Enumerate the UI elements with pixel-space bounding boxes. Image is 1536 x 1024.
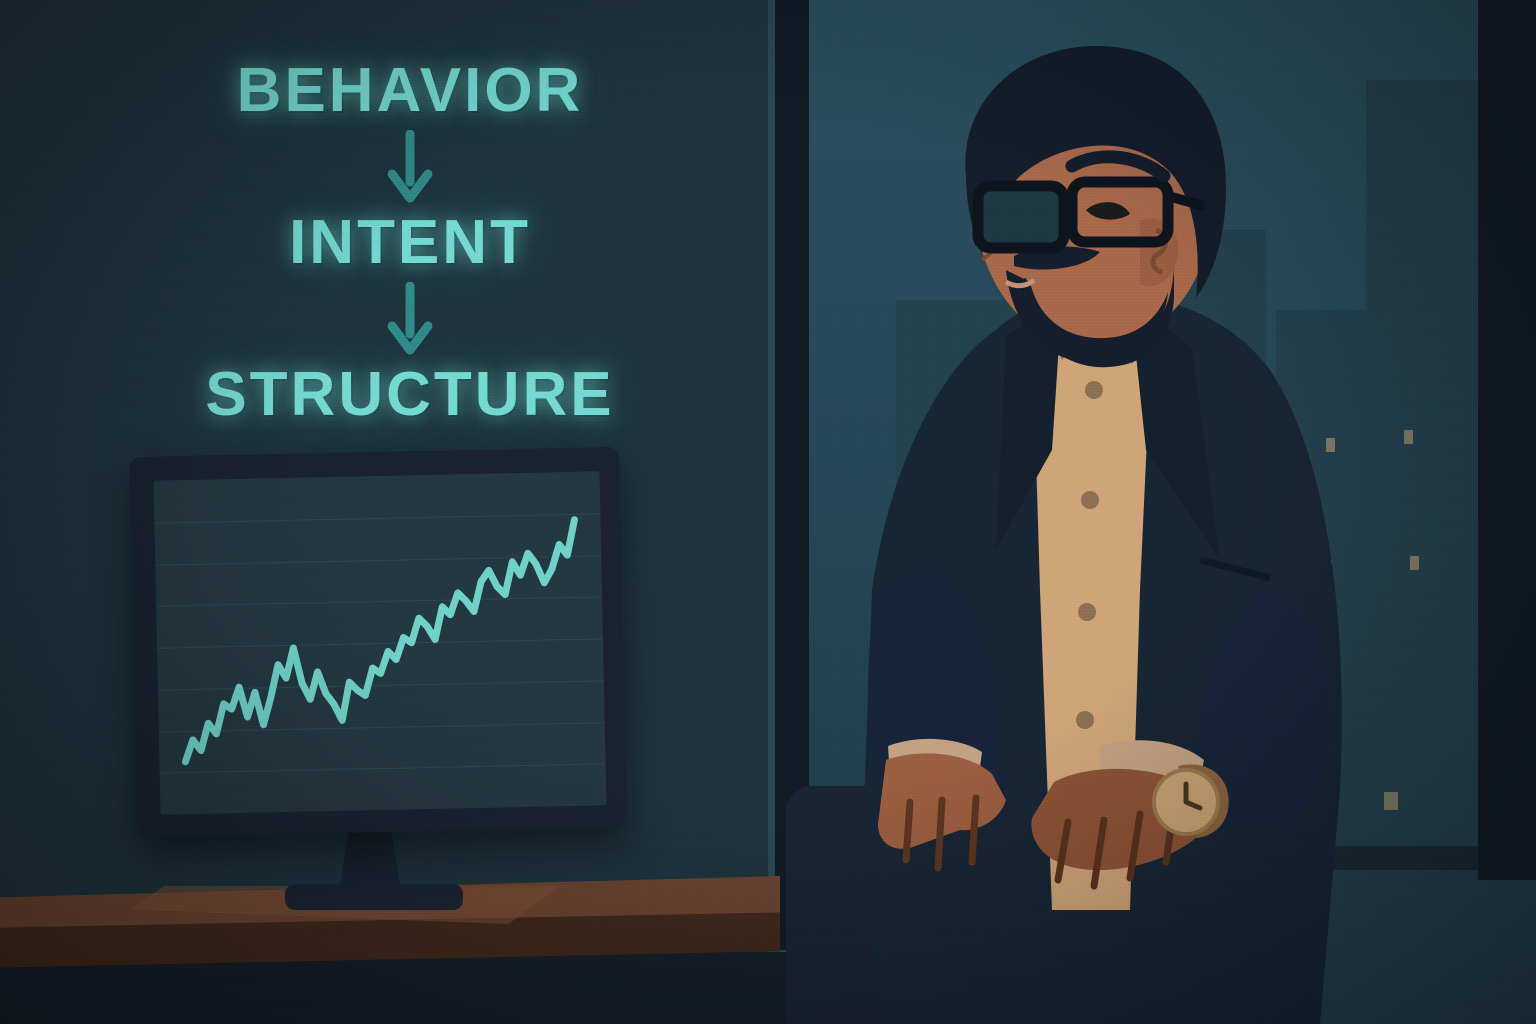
concept-flow-text: BEHAVIOR INTENT STRUCTURE	[150, 60, 670, 426]
shirt-button	[1085, 381, 1103, 399]
arrow-down-icon	[387, 130, 433, 204]
window-frame-right	[1478, 0, 1536, 880]
monitor-screen	[154, 471, 607, 814]
monitor-stand-base	[285, 884, 463, 910]
illustration-scene: BEHAVIOR INTENT STRUCTURE	[0, 0, 1536, 1024]
arrow-down-icon	[387, 282, 433, 356]
wristwatch	[1154, 764, 1229, 838]
flow-word-intent: INTENT	[150, 212, 670, 274]
shirt-button	[1078, 603, 1096, 621]
flow-word-structure: STRUCTURE	[150, 364, 670, 426]
shirt-button	[1076, 711, 1094, 729]
flow-word-behavior: BEHAVIOR	[150, 60, 670, 122]
person-illustration	[800, 30, 1420, 1024]
shirt-button	[1081, 491, 1099, 509]
desktop-monitor	[133, 452, 623, 832]
